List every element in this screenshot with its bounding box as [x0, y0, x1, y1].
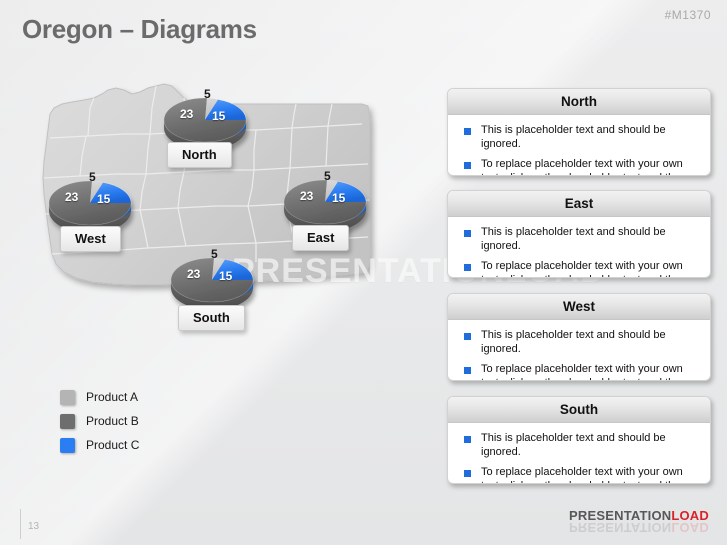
pie-value-product-c: 15: [332, 191, 345, 205]
pie-value-product-b: 23: [300, 189, 313, 203]
footer-divider: [20, 509, 21, 539]
bullet-square-icon: [464, 470, 471, 477]
pie-chart-south[interactable]: 5 23 15: [167, 250, 257, 312]
legend: Product A Product B Product C: [60, 385, 139, 457]
legend-item-product-a[interactable]: Product A: [60, 385, 139, 409]
panel-north[interactable]: North This is placeholder text and shoul…: [447, 88, 711, 176]
legend-label-product-a: Product A: [86, 390, 138, 404]
panel-east[interactable]: East This is placeholder text and should…: [447, 190, 711, 278]
bullet-text: This is placeholder text and should be i…: [481, 124, 700, 151]
pie-value-product-b: 23: [187, 267, 200, 281]
bullet-text: To replace placeholder text with your ow…: [481, 363, 700, 381]
panel-title-west: West: [448, 294, 710, 320]
pie-value-product-a: 5: [204, 87, 211, 101]
presentationload-logo-reflection: PRESENTATIONLOAD: [569, 520, 709, 535]
pie-value-product-b: 23: [65, 190, 78, 204]
legend-item-product-b[interactable]: Product B: [60, 409, 139, 433]
bullet-item: This is placeholder text and should be i…: [458, 432, 700, 459]
bullet-item: To replace placeholder text with your ow…: [458, 158, 700, 176]
panel-west[interactable]: West This is placeholder text and should…: [447, 293, 711, 381]
legend-item-product-c[interactable]: Product C: [60, 433, 139, 457]
bullet-item: To replace placeholder text with your ow…: [458, 466, 700, 484]
bullet-item: This is placeholder text and should be i…: [458, 329, 700, 356]
bullet-square-icon: [464, 128, 471, 135]
bullet-text: To replace placeholder text with your ow…: [481, 158, 700, 176]
page-number: 13: [28, 521, 39, 532]
logo-reflection-text-load: LOAD: [671, 520, 709, 535]
pie-value-product-b: 23: [180, 107, 193, 121]
page-title: Oregon – Diagrams: [22, 14, 257, 45]
bullet-item: This is placeholder text and should be i…: [458, 226, 700, 253]
bullet-item: To replace placeholder text with your ow…: [458, 363, 700, 381]
bullet-item: This is placeholder text and should be i…: [458, 124, 700, 151]
legend-label-product-b: Product B: [86, 414, 139, 428]
bullet-text: This is placeholder text and should be i…: [481, 432, 700, 459]
map-label-north[interactable]: North: [167, 142, 232, 168]
bullet-text: To replace placeholder text with your ow…: [481, 466, 700, 484]
pie-value-product-c: 15: [212, 109, 225, 123]
legend-swatch-product-c: [60, 438, 75, 453]
bullet-square-icon: [464, 436, 471, 443]
bullet-square-icon: [464, 333, 471, 340]
pie-value-product-a: 5: [211, 247, 218, 261]
bullet-square-icon: [464, 264, 471, 271]
pie-value-product-a: 5: [324, 169, 331, 183]
panel-title-north: North: [448, 89, 710, 115]
bullet-text: This is placeholder text and should be i…: [481, 226, 700, 253]
legend-swatch-product-b: [60, 414, 75, 429]
legend-label-product-c: Product C: [86, 438, 139, 452]
pie-value-product-a: 5: [89, 170, 96, 184]
bullet-square-icon: [464, 367, 471, 374]
pie-value-product-c: 15: [97, 192, 110, 206]
panel-south[interactable]: South This is placeholder text and shoul…: [447, 396, 711, 484]
pie-value-product-c: 15: [219, 269, 232, 283]
bullet-text: This is placeholder text and should be i…: [481, 329, 700, 356]
panel-title-south: South: [448, 397, 710, 423]
map-label-east[interactable]: East: [292, 225, 349, 251]
map-label-south[interactable]: South: [178, 305, 245, 331]
bullet-text: To replace placeholder text with your ow…: [481, 260, 700, 278]
map-label-west[interactable]: West: [60, 226, 121, 252]
logo-reflection-text-presentation: PRESENTATION: [569, 520, 671, 535]
bullet-square-icon: [464, 230, 471, 237]
panel-title-east: East: [448, 191, 710, 217]
bullet-item: To replace placeholder text with your ow…: [458, 260, 700, 278]
legend-swatch-product-a: [60, 390, 75, 405]
bullet-square-icon: [464, 162, 471, 169]
template-code: #M1370: [665, 8, 711, 22]
